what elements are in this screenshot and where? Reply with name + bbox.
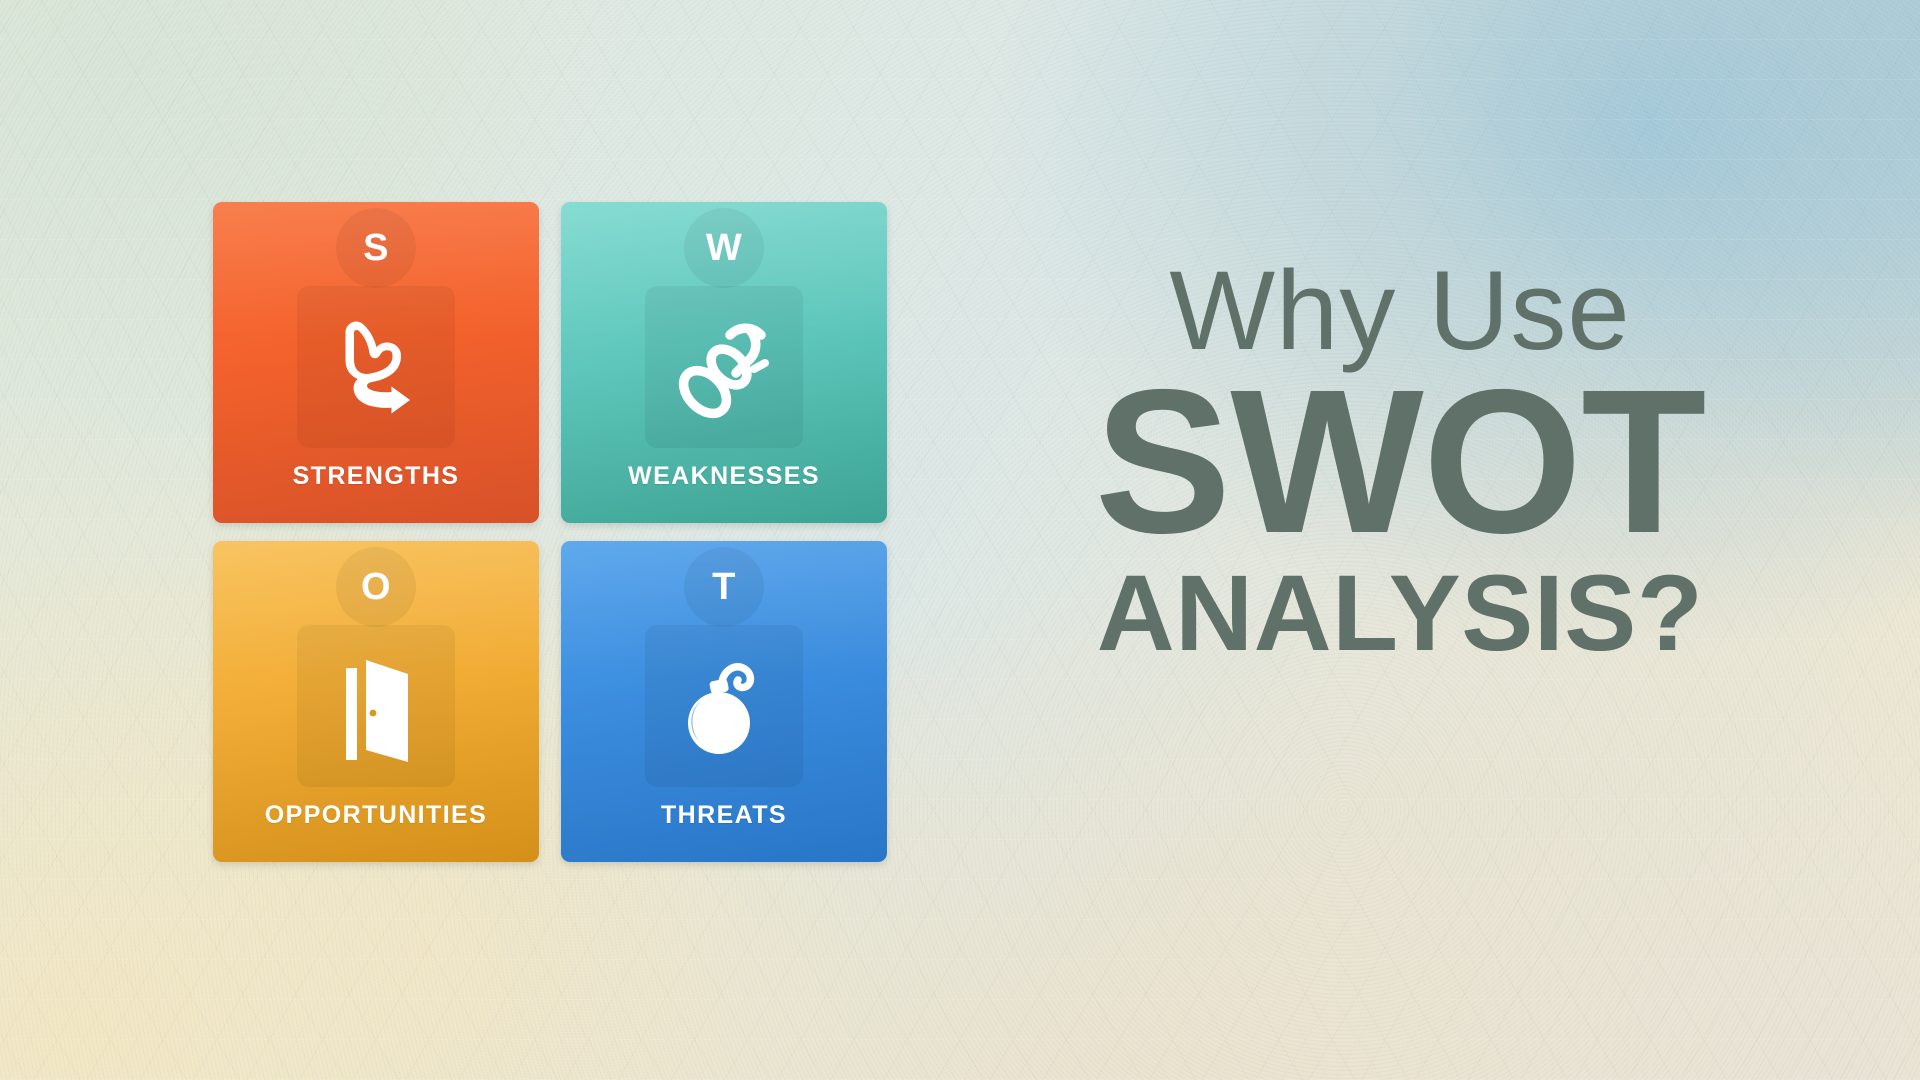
letter-badge-w: W xyxy=(684,208,764,288)
letter-badge-label: S xyxy=(363,229,389,267)
swot-matrix: S STRENGTHS W xyxy=(213,202,883,868)
letter-badge-t: T xyxy=(684,547,764,627)
flexed-bicep-icon xyxy=(326,315,426,419)
headline-line-analysis: ANALYSIS? xyxy=(1000,559,1800,667)
headline-block: Why Use SWOT ANALYSIS? xyxy=(1000,258,1800,667)
open-door-icon xyxy=(330,650,422,762)
broken-chain-icon xyxy=(672,313,776,421)
card-label-opportunities: OPPORTUNITIES xyxy=(213,801,539,830)
slide-canvas: S STRENGTHS W xyxy=(0,0,1920,1080)
letter-badge-o: O xyxy=(336,547,416,627)
letter-badge-label: W xyxy=(706,229,742,267)
swot-card-threats[interactable]: T THREATS xyxy=(561,541,887,862)
icon-tile-opportunities xyxy=(297,625,455,787)
swot-card-weaknesses[interactable]: W WEAKNESSES xyxy=(561,202,887,523)
icon-tile-strengths xyxy=(297,286,455,448)
card-label-strengths: STRENGTHS xyxy=(213,462,539,491)
icon-tile-threats xyxy=(645,625,803,787)
card-label-weaknesses: WEAKNESSES xyxy=(561,462,887,491)
bomb-icon xyxy=(675,652,773,760)
swot-card-opportunities[interactable]: O OPPORTUNITIES xyxy=(213,541,539,862)
letter-badge-s: S xyxy=(336,208,416,288)
icon-tile-weaknesses xyxy=(645,286,803,448)
letter-badge-label: T xyxy=(712,568,736,606)
swot-card-strengths[interactable]: S STRENGTHS xyxy=(213,202,539,523)
card-label-threats: THREATS xyxy=(561,801,887,830)
headline-line-swot: SWOT xyxy=(1000,368,1800,557)
letter-badge-label: O xyxy=(361,568,391,606)
